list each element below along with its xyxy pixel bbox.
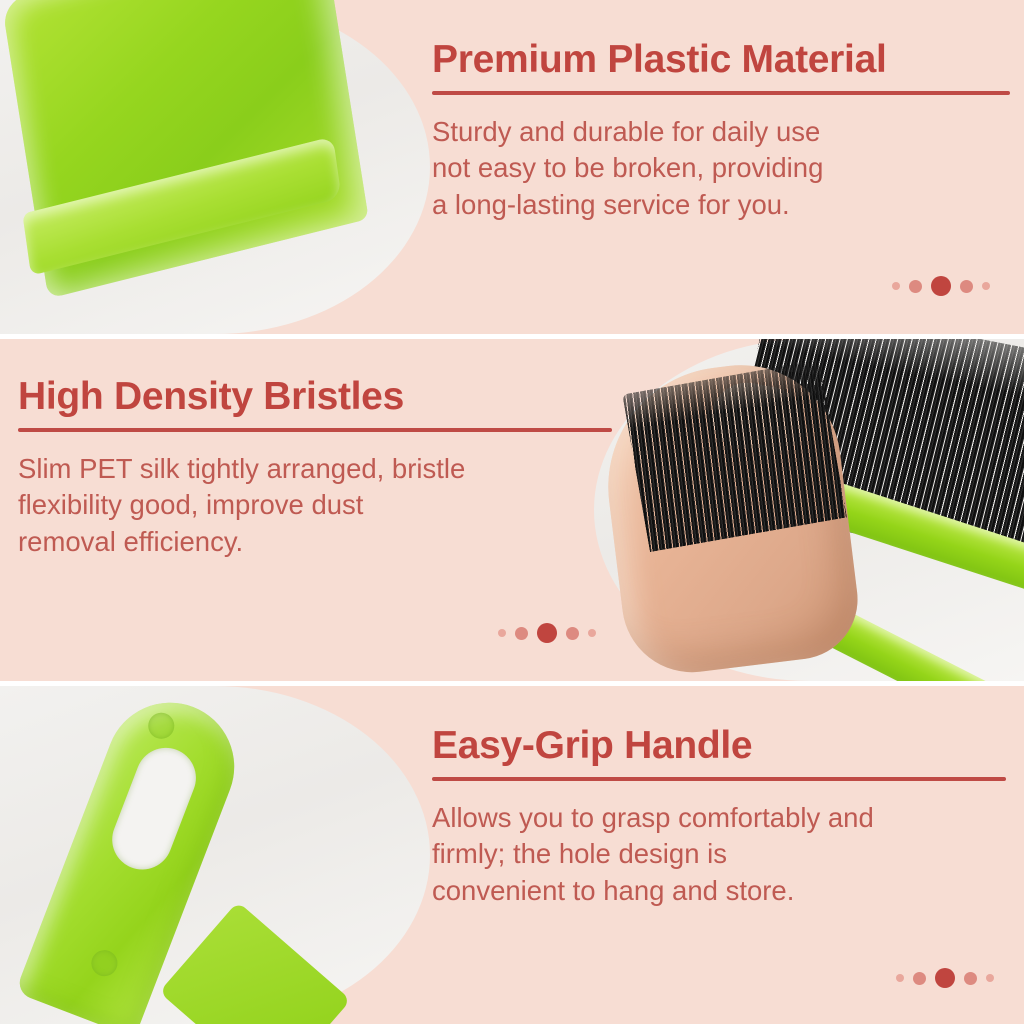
dot-decoration [982,282,990,290]
rivet-shape [88,946,122,980]
photo-backdrop [594,339,1024,681]
panel-3-heading-rule [432,777,1006,781]
panel-2-heading: High Density Bristles [18,375,592,419]
panel-2-body-line-1: Slim PET silk tightly arranged, bristle [18,451,592,488]
dot-decoration [588,629,596,637]
product-feature-infographic: Premium Plastic Material Sturdy and dura… [0,0,1024,1024]
dot-decoration [566,627,579,640]
dot-decoration [931,276,951,296]
panel-1-dots-indicator [892,276,990,296]
panel-3-body-line-3: convenient to hang and store. [432,873,1000,910]
dot-decoration [896,974,904,982]
panel-1-heading-rule [432,91,1010,95]
panel-1-body-line-3: a long-lasting service for you. [432,187,1000,224]
feature-panel-premium-plastic-material: Premium Plastic Material Sturdy and dura… [0,0,1024,334]
panel-3-body: Allows you to grasp comfortably and firm… [432,800,1000,910]
dot-decoration [935,968,955,988]
dot-decoration [913,972,926,985]
photo-backdrop [0,0,430,334]
panel-3-heading: Easy-Grip Handle [432,724,1000,768]
dot-decoration [498,629,506,637]
rivet-shape [144,709,178,743]
panel-1-body-line-2: not easy to be broken, providing [432,150,1000,187]
handle-hole-shape [103,739,204,878]
feature-panel-easy-grip-handle: Easy-Grip Handle Allows you to grasp com… [0,686,1024,1024]
panel-1-body: Sturdy and durable for daily use not eas… [432,114,1000,224]
panel-1-heading: Premium Plastic Material [432,38,1000,82]
bristles-shape-secondary [622,360,847,552]
panel-2-body-line-3: removal efficiency. [18,524,592,561]
panel-2-dots-indicator [498,623,596,643]
dot-decoration [909,280,922,293]
panel-1-body-line-1: Sturdy and durable for daily use [432,114,1000,151]
panel-3-dots-indicator [896,968,994,988]
panel-3-body-line-2: firmly; the hole design is [432,836,1000,873]
panel-2-heading-rule [18,428,612,432]
dot-decoration [986,974,994,982]
dot-decoration [964,972,977,985]
dot-decoration [537,623,557,643]
dot-decoration [960,280,973,293]
dot-decoration [892,282,900,290]
panel-2-body: Slim PET silk tightly arranged, bristle … [18,451,592,561]
hand-thumb-shape [595,354,865,680]
feature-panel-high-density-bristles: High Density Bristles Slim PET silk tigh… [0,339,1024,681]
panel-2-body-line-2: flexibility good, improve dust [18,487,592,524]
photo-backdrop [0,686,430,1024]
handle-stem-shape [159,902,351,1024]
panel-3-body-line-1: Allows you to grasp comfortably and [432,800,1000,837]
dot-decoration [515,627,528,640]
